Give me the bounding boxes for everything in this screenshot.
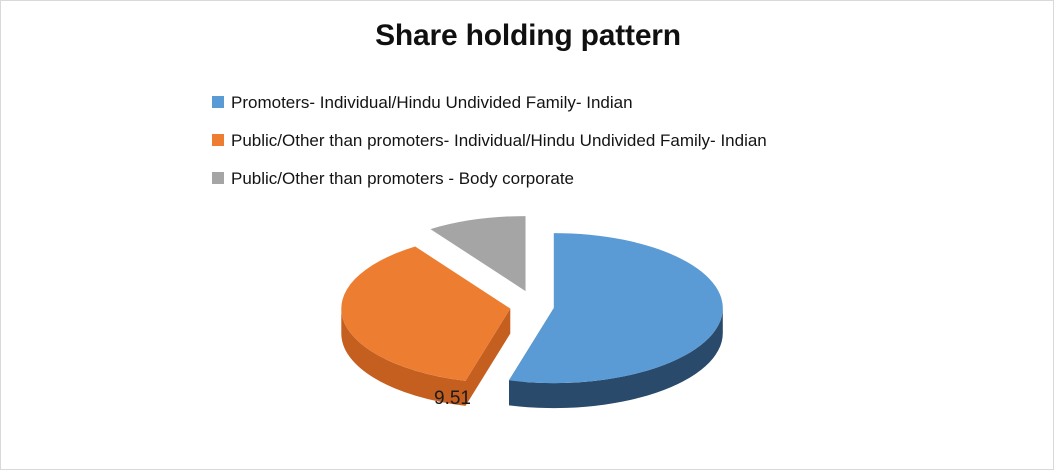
pie-slice-public-individual[interactable]: [341, 247, 510, 406]
legend-item-promoters-individual[interactable]: Promoters- Individual/Hindu Undivided Fa…: [212, 83, 972, 121]
legend-label-public-body-corporate: Public/Other than promoters - Body corpo…: [231, 170, 574, 187]
legend-label-promoters-individual: Promoters- Individual/Hindu Undivided Fa…: [231, 94, 633, 111]
pie-slice-promoters-individual[interactable]: [509, 233, 723, 408]
chart-title: Share holding pattern: [1, 19, 1054, 53]
legend-swatch-blue-icon: [212, 96, 224, 108]
legend-swatch-gray-icon: [212, 172, 224, 184]
pie-chart-area: 9.51 36.22 54.27: [1, 186, 1054, 470]
pie-chart-svg: [1, 186, 1054, 470]
data-label-body-corporate: 9.51: [434, 388, 471, 410]
legend-item-public-individual[interactable]: Public/Other than promoters- Individual/…: [212, 121, 972, 159]
legend-swatch-orange-icon: [212, 134, 224, 146]
chart-canvas: Share holding pattern Promoters- Individ…: [0, 0, 1054, 470]
legend-label-public-individual: Public/Other than promoters- Individual/…: [231, 132, 767, 149]
chart-legend: Promoters- Individual/Hindu Undivided Fa…: [212, 83, 972, 197]
